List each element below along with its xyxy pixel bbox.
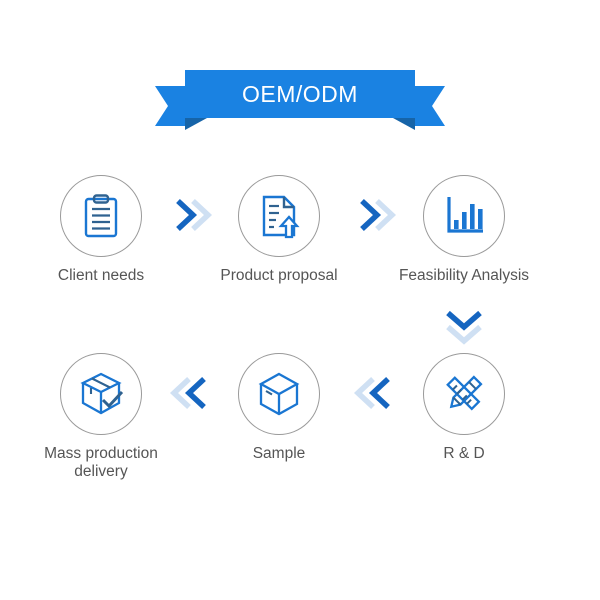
oem-odm-banner: OEM/ODM: [155, 70, 445, 132]
flow-node-label: R & D: [384, 445, 544, 463]
icon-circle: [60, 175, 142, 257]
icon-circle: [423, 175, 505, 257]
flow-node-mass-production-delivery[interactable]: Mass production delivery: [21, 353, 181, 481]
document-upload-icon: [256, 193, 302, 239]
icon-circle: [238, 353, 320, 435]
connector-double-chevron-down: [441, 307, 487, 347]
clipboard-icon: [78, 193, 124, 239]
flow-node-research-development[interactable]: R & D: [384, 353, 544, 463]
flow-node-label: Mass production delivery: [21, 445, 181, 481]
flow-node-client-needs[interactable]: Client needs: [21, 175, 181, 285]
flow-node-label: Product proposal: [199, 267, 359, 285]
flow-node-label: Client needs: [21, 267, 181, 285]
flow-node-label: Sample: [199, 445, 359, 463]
banner-title: OEM/ODM: [155, 70, 445, 118]
double-chevron-down-icon: [441, 307, 487, 347]
box-check-icon: [77, 370, 125, 418]
pencil-ruler-icon: [440, 370, 488, 418]
icon-circle: [60, 353, 142, 435]
flow-node-product-proposal[interactable]: Product proposal: [199, 175, 359, 285]
bar-chart-icon: [441, 193, 487, 239]
flow-node-sample[interactable]: Sample: [199, 353, 359, 463]
icon-circle: [238, 175, 320, 257]
flow-node-feasibility-analysis[interactable]: Feasibility Analysis: [384, 175, 544, 285]
box-icon: [255, 370, 303, 418]
flow-row-top: Client needs Product proposal: [0, 175, 600, 305]
icon-circle: [423, 353, 505, 435]
flow-row-bottom: Mass production delivery Sample: [0, 353, 600, 483]
flow-node-label: Feasibility Analysis: [384, 267, 544, 285]
